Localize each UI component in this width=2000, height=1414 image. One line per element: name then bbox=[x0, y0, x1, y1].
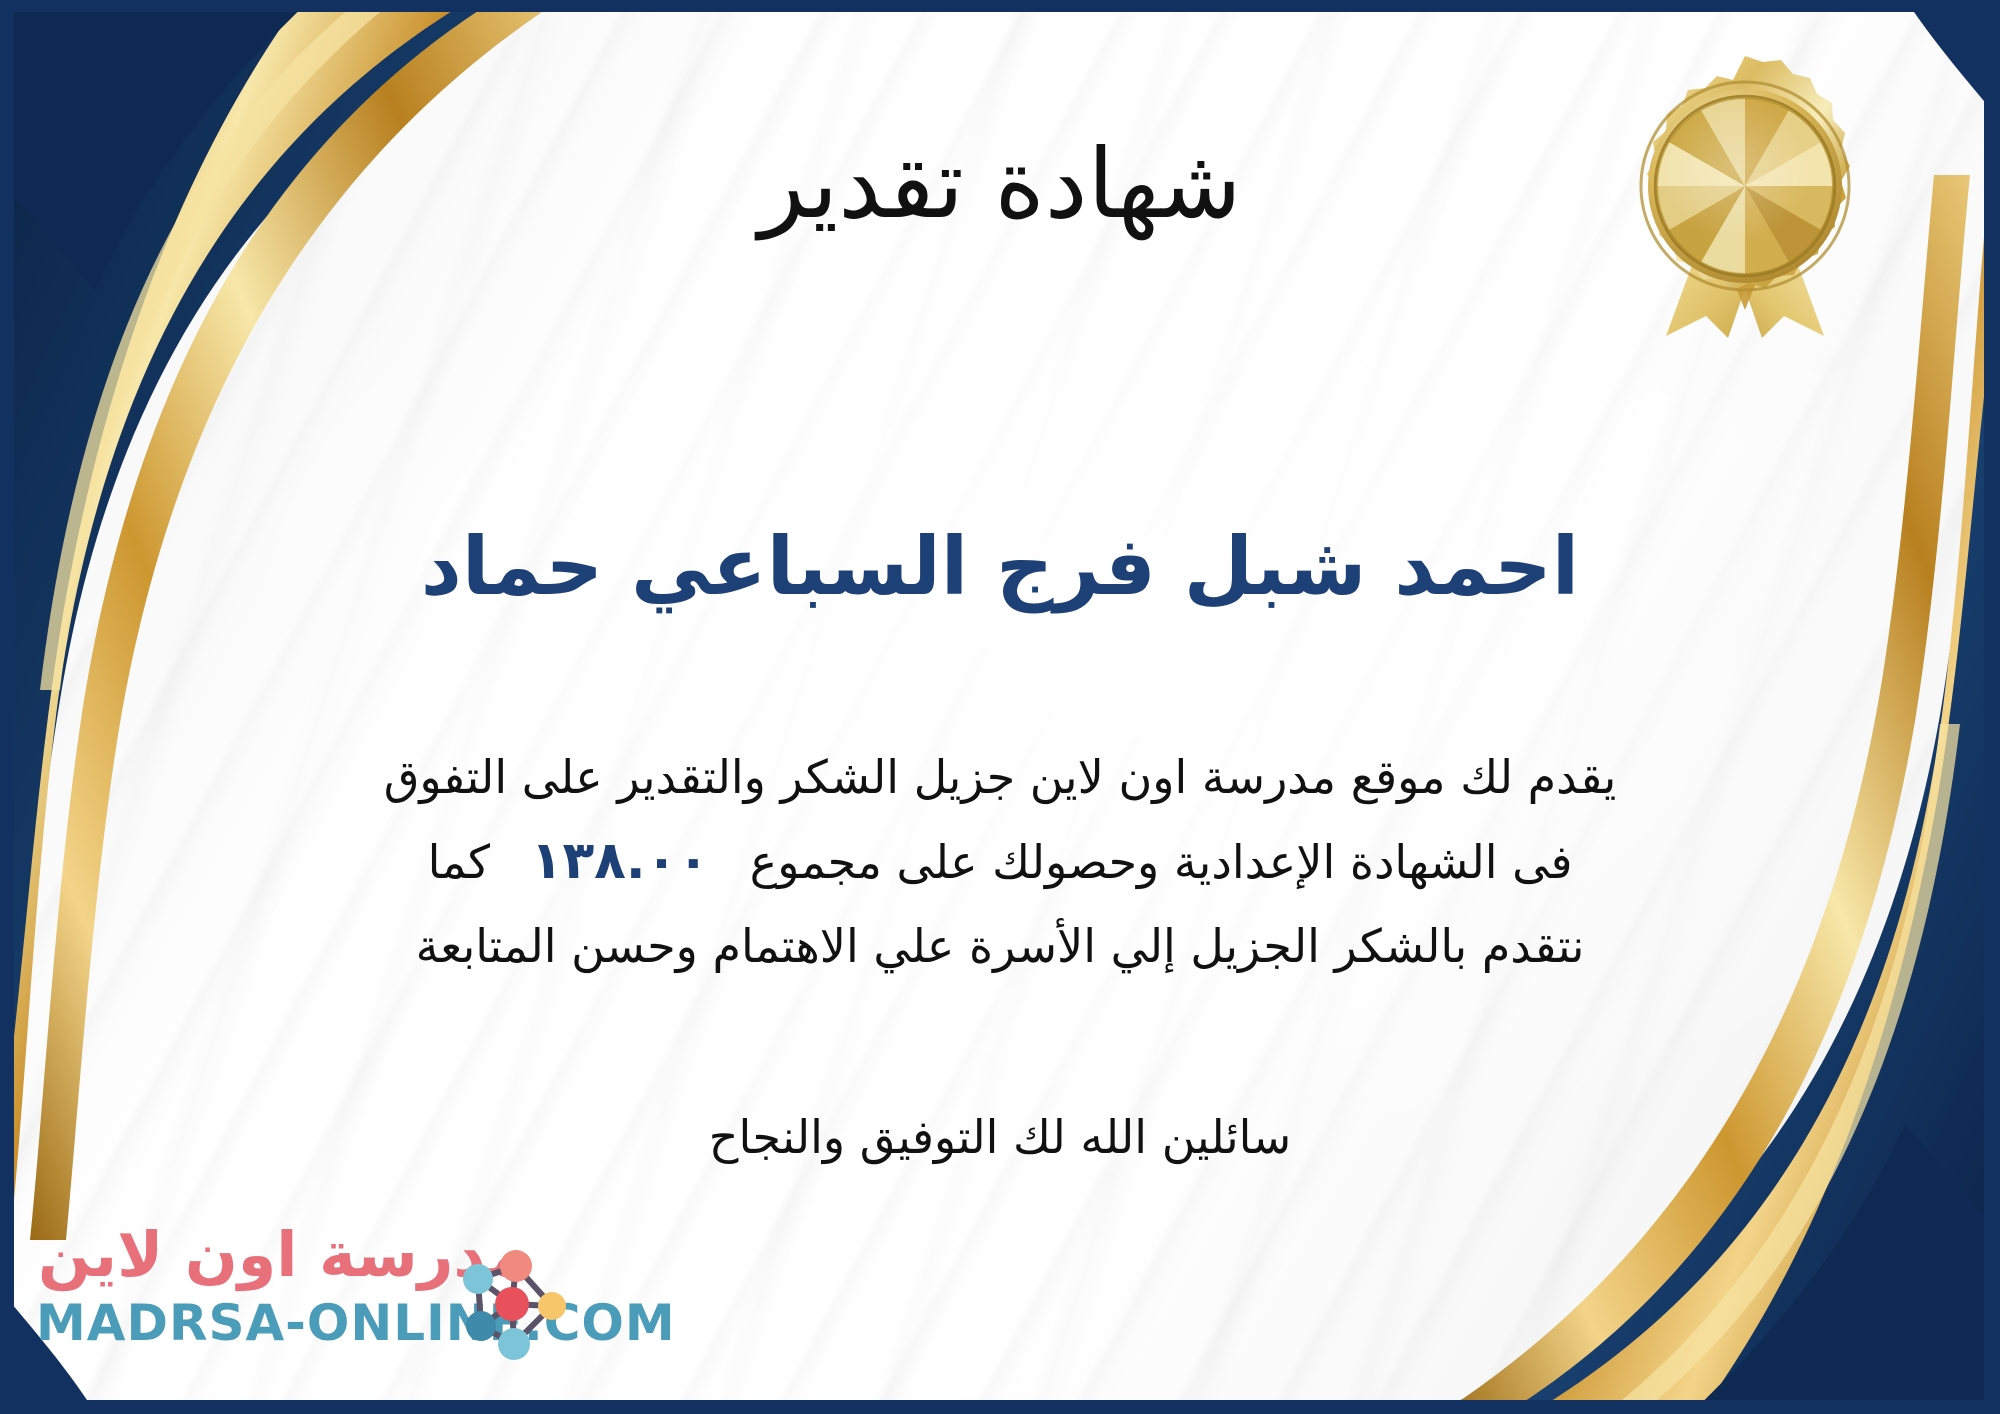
closing-line: سائلين الله لك التوفيق والنجاح bbox=[60, 1110, 1940, 1164]
body-line-1: يقدم لك موقع مدرسة اون لاين جزيل الشكر و… bbox=[60, 735, 1940, 819]
border-left bbox=[0, 0, 14, 1414]
body-line-2-suffix: كما bbox=[428, 835, 491, 889]
body-line-3: نتقدم بالشكر الجزيل إلي الأسرة علي الاهت… bbox=[60, 904, 1940, 988]
brand-website-text: MADRSA-ONLINE.COM bbox=[36, 1294, 676, 1352]
recipient-name: احمد شبل فرج السباعي حماد bbox=[0, 520, 2000, 613]
border-bottom bbox=[0, 1400, 2000, 1414]
certificate-body: يقدم لك موقع مدرسة اون لاين جزيل الشكر و… bbox=[60, 735, 1940, 988]
network-graph-icon bbox=[448, 1234, 578, 1364]
total-score-value: ١٣٨.٠٠ bbox=[505, 831, 735, 891]
border-top bbox=[0, 0, 2000, 12]
border-right bbox=[1984, 0, 2000, 1414]
certificate-page: شهادة تقدير احمد شبل فرج السباعي حماد يق… bbox=[0, 0, 2000, 1414]
certificate-title: شهادة تقدير bbox=[0, 128, 2000, 240]
body-line-2-prefix: فى الشهادة الإعدادية وحصولك على مجموع bbox=[750, 835, 1573, 889]
brand-logo[interactable]: مدرسة اون لاين MADRSA-ONLINE.COM bbox=[28, 1218, 588, 1368]
body-line-2: فى الشهادة الإعدادية وحصولك على مجموع ١٣… bbox=[60, 819, 1940, 904]
